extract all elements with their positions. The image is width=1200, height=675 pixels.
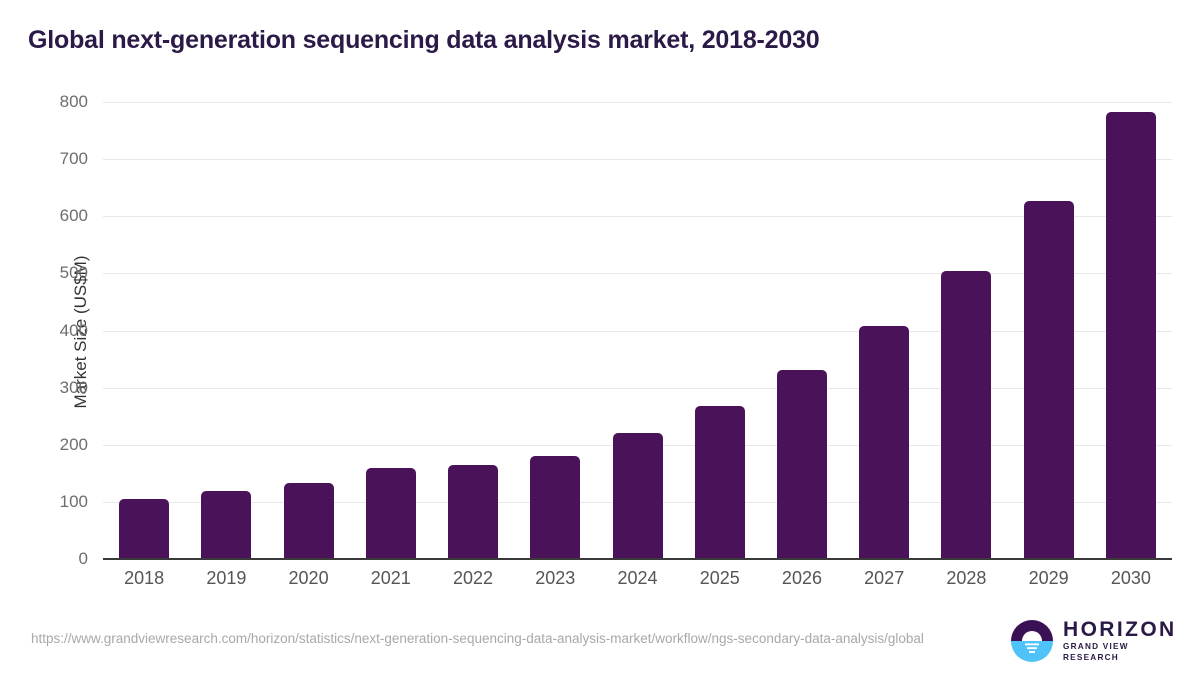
x-axis-tick-label: 2025 bbox=[700, 568, 740, 589]
y-axis-tick-label: 200 bbox=[28, 435, 88, 455]
bar[interactable] bbox=[201, 491, 251, 559]
bar[interactable] bbox=[777, 370, 827, 559]
x-axis-tick-label: 2028 bbox=[946, 568, 986, 589]
bar[interactable] bbox=[284, 483, 334, 559]
y-axis-tick-label: 100 bbox=[28, 492, 88, 512]
bar-series bbox=[103, 95, 1172, 560]
bar[interactable] bbox=[448, 465, 498, 559]
y-axis-tick-label: 500 bbox=[28, 263, 88, 283]
x-axis-tick-label: 2022 bbox=[453, 568, 493, 589]
page-title: Global next-generation sequencing data a… bbox=[28, 26, 819, 55]
logo-subtitle: GRAND VIEW RESEARCH bbox=[1063, 641, 1177, 663]
x-axis-tick-label: 2019 bbox=[206, 568, 246, 589]
bar[interactable] bbox=[695, 406, 745, 559]
bar[interactable] bbox=[366, 468, 416, 559]
x-axis-tick-label: 2021 bbox=[371, 568, 411, 589]
y-axis-tick-label: 300 bbox=[28, 378, 88, 398]
logo-wordmark: HORIZON GRAND VIEW RESEARCH bbox=[1063, 619, 1177, 663]
y-axis-tick-label: 600 bbox=[28, 206, 88, 226]
x-axis-line bbox=[103, 558, 1172, 560]
bar[interactable] bbox=[859, 326, 909, 559]
x-axis-tick-label: 2020 bbox=[289, 568, 329, 589]
bar[interactable] bbox=[530, 456, 580, 559]
x-axis-tick-label: 2018 bbox=[124, 568, 164, 589]
bar[interactable] bbox=[119, 499, 169, 559]
bar[interactable] bbox=[941, 271, 991, 559]
x-axis-tick-label: 2029 bbox=[1029, 568, 1069, 589]
bar[interactable] bbox=[1106, 112, 1156, 559]
y-axis-tick-label: 700 bbox=[28, 149, 88, 169]
bar[interactable] bbox=[1024, 201, 1074, 559]
x-axis-tick-label: 2030 bbox=[1111, 568, 1151, 589]
chart-page: Global next-generation sequencing data a… bbox=[0, 0, 1200, 675]
y-axis-tick-label: 400 bbox=[28, 321, 88, 341]
y-axis-tick-label: 800 bbox=[28, 92, 88, 112]
x-axis-tick-label: 2026 bbox=[782, 568, 822, 589]
x-axis-tick-label: 2023 bbox=[535, 568, 575, 589]
horizon-logo: HORIZON GRAND VIEW RESEARCH bbox=[1010, 618, 1170, 664]
x-axis-tick-label: 2024 bbox=[617, 568, 657, 589]
horizon-sun-circle-icon bbox=[1010, 619, 1054, 663]
x-axis-tick-label: 2027 bbox=[864, 568, 904, 589]
source-url[interactable]: https://www.grandviewresearch.com/horizo… bbox=[31, 629, 956, 649]
y-axis-tick-label: 0 bbox=[28, 549, 88, 569]
logo-word: HORIZON bbox=[1063, 619, 1177, 641]
bar[interactable] bbox=[613, 433, 663, 559]
plot-area: Market Size (US$M) bbox=[103, 95, 1172, 560]
